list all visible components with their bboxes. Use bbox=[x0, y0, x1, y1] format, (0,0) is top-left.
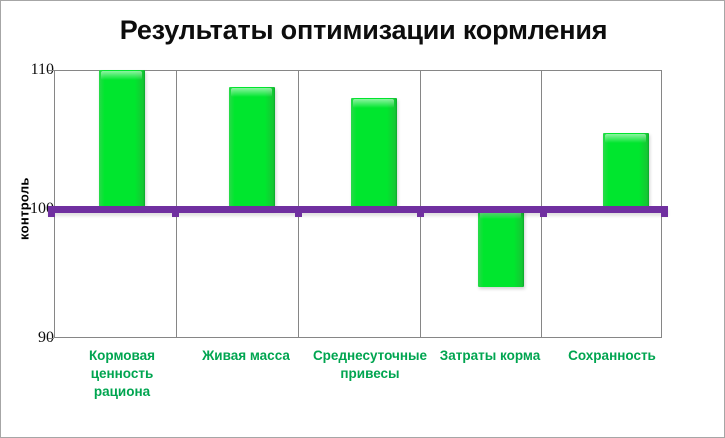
control-baseline-line bbox=[48, 206, 668, 213]
control-marker-4 bbox=[540, 210, 547, 217]
control-marker-3 bbox=[417, 210, 424, 217]
control-marker-0 bbox=[48, 210, 55, 217]
chart-title: Результаты оптимизации кормления bbox=[1, 15, 725, 46]
bar-4 bbox=[603, 133, 649, 209]
control-marker-5 bbox=[661, 210, 668, 217]
y-axis-title: контроль bbox=[15, 139, 33, 279]
category-label-4: Сохранность bbox=[554, 347, 670, 365]
category-label-3: Затраты корма bbox=[432, 347, 548, 365]
category-separator-1 bbox=[176, 71, 177, 337]
category-separator-2 bbox=[298, 71, 299, 337]
category-label-0: Кормовая ценность рациона bbox=[63, 347, 181, 402]
category-separator-4 bbox=[541, 71, 542, 337]
category-label-1: Живая масса bbox=[187, 347, 305, 365]
bar-0 bbox=[99, 70, 145, 209]
bar-1 bbox=[229, 87, 275, 209]
y-tick-mark-90 bbox=[48, 338, 54, 339]
category-label-2: Среднесуточные привесы bbox=[307, 347, 433, 383]
control-marker-1 bbox=[172, 210, 179, 217]
bar-2 bbox=[351, 98, 397, 209]
chart-container: Результаты оптимизации кормления 110 100… bbox=[0, 0, 725, 438]
control-marker-2 bbox=[295, 210, 302, 217]
category-separator-3 bbox=[420, 71, 421, 337]
bar-3 bbox=[478, 209, 524, 287]
